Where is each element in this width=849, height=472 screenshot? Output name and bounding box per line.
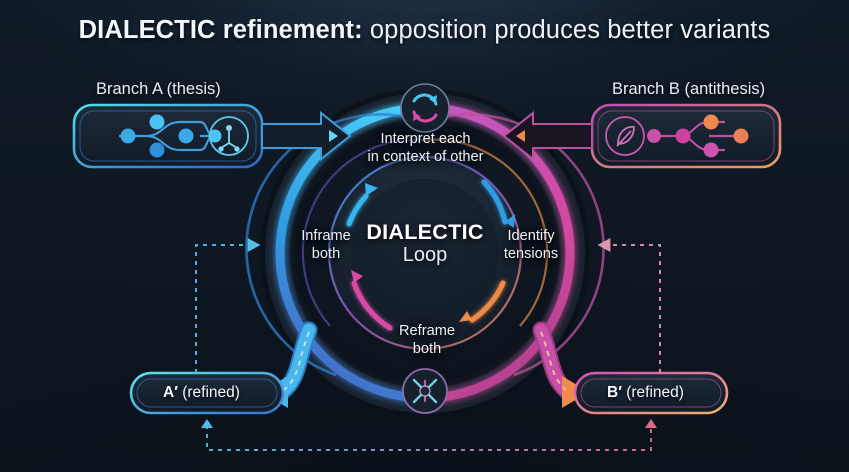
- page-title-rest: opposition produces better variants: [363, 16, 771, 44]
- step-label-identify-line2: tensions: [487, 246, 575, 264]
- loop-center-subtitle: Loop: [350, 244, 500, 268]
- loop-center-label: DIALECTIC Loop: [350, 221, 500, 268]
- output-a-prime-label: A′ (refined): [163, 384, 240, 402]
- step-label-reframe-line1: Reframe: [382, 323, 472, 341]
- page-title-bold: DIALECTIC refinement:: [79, 16, 363, 44]
- output-b-prime-rest: (refined): [622, 384, 684, 401]
- feedback-bottom-path: [201, 419, 657, 450]
- step-label-interpret-line1: Interpret each: [338, 131, 513, 149]
- branch-b-box[interactable]: [592, 105, 780, 167]
- step-label-reframe-line2: both: [382, 341, 472, 359]
- refresh-cycle-icon: [401, 84, 449, 132]
- step-label-identify-line1: Identify: [487, 228, 575, 246]
- branch-b-label: Branch B (antithesis): [612, 80, 765, 99]
- feedback-left-path: [196, 245, 258, 373]
- branch-a-label: Branch A (thesis): [96, 80, 221, 99]
- step-label-interpret: Interpret each in context of other: [338, 131, 513, 166]
- output-b-prime-label: B′ (refined): [607, 384, 684, 402]
- merge-cross-icon: [403, 369, 447, 413]
- output-b-prime-bold: B′: [607, 384, 622, 401]
- output-a-prime-rest: (refined): [178, 384, 240, 401]
- step-label-identify: Identify tensions: [487, 228, 575, 263]
- page-title: DIALECTIC refinement: opposition produce…: [0, 16, 849, 45]
- feedback-right-path: [600, 245, 660, 373]
- output-a-prime-bold: A′: [163, 384, 178, 401]
- diagram-canvas: DIALECTIC refinement: opposition produce…: [0, 0, 849, 472]
- step-label-reframe: Reframe both: [382, 323, 472, 358]
- branch-a-box[interactable]: [74, 105, 262, 167]
- step-label-interpret-line2: in context of other: [338, 149, 513, 167]
- loop-center-title: DIALECTIC: [350, 221, 500, 244]
